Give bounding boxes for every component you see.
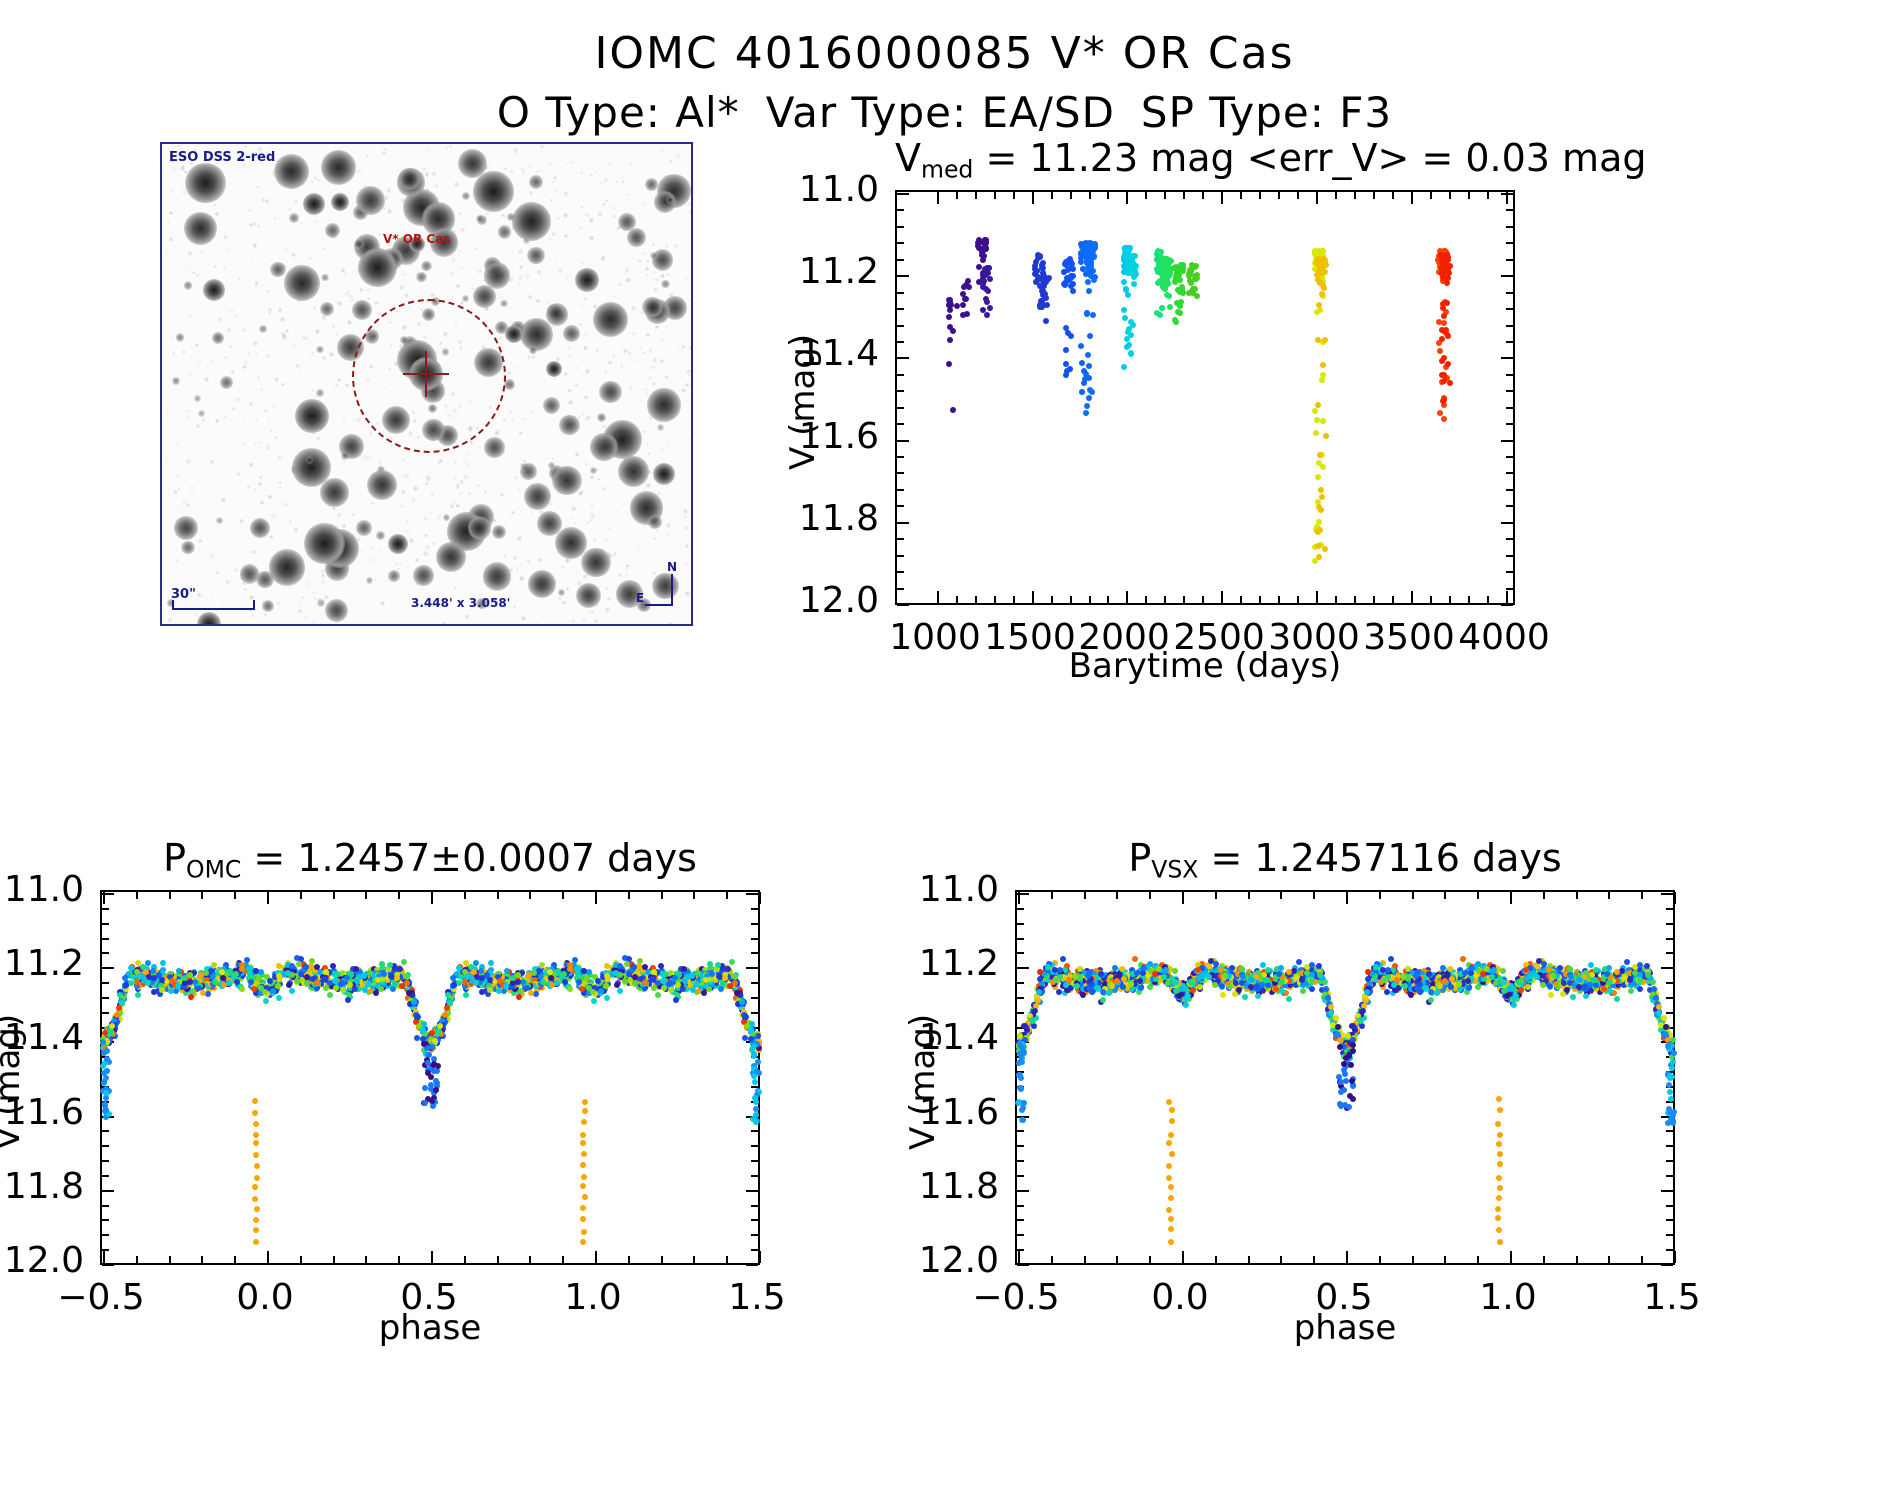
data-point (256, 976, 262, 982)
data-point (433, 1087, 439, 1093)
x-minor-tick (464, 1256, 466, 1263)
background-noise (548, 162, 552, 166)
background-noise (521, 417, 525, 421)
background-noise (342, 524, 346, 528)
field-star (512, 202, 551, 241)
background-noise (341, 464, 343, 466)
field-star (356, 520, 371, 535)
background-noise (329, 352, 334, 357)
background-noise (255, 353, 258, 356)
data-point (160, 960, 166, 966)
background-noise (642, 430, 645, 433)
background-noise (434, 167, 436, 169)
data-point (960, 302, 966, 308)
background-noise (361, 550, 363, 552)
x-minor-tick (398, 1256, 400, 1263)
survey-label: ESO DSS 2-red (169, 150, 275, 165)
y-minor-tick (102, 1012, 109, 1014)
background-noise (465, 453, 469, 457)
data-point (1084, 310, 1090, 316)
data-point (1315, 529, 1321, 535)
x-minor-tick (1070, 596, 1072, 603)
background-noise (249, 462, 254, 467)
data-point (375, 977, 381, 983)
background-noise (651, 365, 656, 370)
data-point (168, 988, 174, 994)
data-point (1187, 278, 1193, 284)
background-noise (423, 551, 428, 556)
data-point (694, 981, 700, 987)
y-minor-tick (1017, 923, 1024, 925)
background-noise (646, 392, 648, 394)
field-star (599, 381, 621, 403)
data-point (617, 963, 623, 969)
field-star (627, 228, 646, 247)
data-point (1166, 293, 1172, 299)
x-minor-tick (1280, 892, 1282, 899)
y-minor-tick (897, 341, 904, 343)
background-noise (257, 224, 260, 227)
x-tick (267, 1251, 269, 1263)
data-point (252, 1184, 258, 1190)
background-noise (634, 359, 637, 362)
data-point (1079, 360, 1085, 366)
y-minor-tick (1506, 242, 1513, 244)
y-minor-tick (1666, 1130, 1673, 1132)
background-noise (165, 460, 168, 463)
background-noise (620, 364, 623, 367)
background-noise (211, 360, 214, 363)
data-point (1316, 256, 1322, 262)
background-noise (502, 418, 506, 422)
background-noise (455, 572, 457, 574)
background-noise (337, 378, 341, 382)
y-minor-tick (897, 456, 904, 458)
data-point (1070, 288, 1076, 294)
data-point (253, 1140, 259, 1146)
y-minor-tick (1666, 1249, 1673, 1251)
x-tick-label: 1.0 (523, 1277, 663, 1318)
data-point (567, 966, 573, 972)
y-minor-tick (1506, 407, 1513, 409)
background-noise (248, 209, 251, 212)
data-point (655, 992, 661, 998)
x-tick (1346, 892, 1348, 904)
background-noise (669, 160, 672, 163)
x-minor-tick (1430, 192, 1432, 199)
background-noise (429, 511, 432, 514)
y-minor-tick (1506, 325, 1513, 327)
data-point (1121, 307, 1127, 313)
data-point (753, 1112, 759, 1118)
data-point (632, 980, 638, 986)
data-point (159, 987, 165, 993)
y-minor-tick (102, 938, 109, 940)
x-minor-tick (1183, 192, 1185, 199)
bright-star (303, 193, 325, 215)
data-point (580, 1216, 586, 1222)
background-noise (534, 527, 537, 530)
background-noise (266, 446, 270, 450)
compass-north-label: N (667, 560, 677, 574)
background-noise (688, 374, 691, 377)
background-noise (332, 507, 336, 511)
x-minor-tick (1297, 192, 1299, 199)
field-star (507, 213, 515, 221)
data-point (1176, 272, 1182, 278)
background-noise (530, 409, 534, 413)
background-noise (347, 320, 352, 325)
background-noise (645, 267, 649, 271)
data-point (598, 988, 604, 994)
background-noise (210, 554, 215, 559)
background-noise (653, 537, 656, 540)
data-point (658, 963, 664, 969)
data-point (1081, 380, 1087, 386)
x-tick (1674, 892, 1676, 904)
background-noise (400, 563, 403, 566)
background-noise (244, 145, 247, 148)
background-noise (167, 414, 169, 416)
background-noise (235, 315, 237, 317)
x-minor-tick (562, 1256, 564, 1263)
background-noise (621, 180, 625, 184)
data-point (1445, 361, 1451, 367)
x-minor-tick (1013, 192, 1015, 199)
data-point (582, 1099, 588, 1105)
field-star (462, 192, 470, 200)
data-point (727, 983, 733, 989)
x-tick (1018, 892, 1020, 904)
background-noise (405, 529, 409, 533)
background-noise (513, 605, 516, 608)
data-point (1321, 285, 1327, 291)
field-star (216, 517, 223, 524)
x-minor-tick (234, 1256, 236, 1263)
y-minor-tick (1666, 1219, 1673, 1221)
background-noise (261, 198, 265, 202)
background-noise (401, 490, 406, 495)
y-minor-tick (751, 1145, 758, 1147)
background-noise (644, 388, 647, 391)
data-point (347, 982, 353, 988)
field-star (174, 516, 198, 540)
x-tick (1221, 192, 1223, 204)
background-noise (604, 371, 607, 374)
data-point (631, 964, 637, 970)
background-noise (518, 277, 522, 281)
background-noise (335, 332, 338, 335)
background-noise (579, 226, 583, 230)
data-point (394, 975, 400, 981)
data-point (584, 976, 590, 982)
x-minor-tick (1278, 596, 1280, 603)
background-noise (639, 311, 643, 315)
background-noise (407, 565, 409, 567)
x-minor-tick (136, 892, 138, 899)
background-noise (177, 474, 179, 476)
field-star (284, 265, 320, 301)
data-point (581, 1229, 587, 1235)
data-point (1121, 364, 1127, 370)
x-minor-tick (234, 892, 236, 899)
background-noise (425, 482, 428, 485)
background-noise (513, 556, 517, 560)
x-minor-tick (1084, 892, 1086, 899)
background-noise (395, 562, 399, 566)
background-noise (460, 480, 463, 483)
background-noise (379, 462, 382, 465)
data-point (515, 979, 521, 985)
background-noise (274, 377, 279, 382)
y-tick (1501, 604, 1513, 606)
y-tick (102, 1264, 114, 1266)
y-minor-tick (1017, 1145, 1024, 1147)
lightcurve-title: Vmed = 11.23 mag <err_V> = 0.03 mag (895, 136, 1515, 184)
background-noise (608, 162, 612, 166)
data-point (1322, 546, 1328, 552)
data-point (1316, 519, 1322, 525)
y-minor-tick (1666, 1012, 1673, 1014)
background-noise (293, 343, 297, 347)
phase-vsx-plot-area (1015, 890, 1675, 1265)
background-noise (518, 488, 520, 490)
y-minor-tick (1506, 374, 1513, 376)
background-noise (557, 217, 560, 220)
x-tick (1032, 192, 1034, 204)
background-noise (324, 595, 328, 599)
background-noise (575, 452, 580, 457)
data-point (581, 1174, 587, 1180)
background-noise (558, 332, 560, 334)
y-minor-tick (102, 952, 109, 954)
background-noise (378, 312, 381, 315)
x-minor-tick (365, 1256, 367, 1263)
y-minor-tick (751, 1205, 758, 1207)
x-minor-tick (169, 892, 171, 899)
x-minor-tick (1392, 596, 1394, 603)
x-minor-tick (1430, 596, 1432, 603)
background-noise (346, 384, 349, 387)
background-noise (335, 383, 339, 387)
background-noise (605, 607, 610, 612)
background-noise (511, 417, 515, 421)
background-noise (552, 458, 554, 460)
field-star (563, 325, 580, 342)
data-point (303, 964, 309, 970)
background-noise (639, 217, 641, 219)
scalebar-line (172, 608, 255, 610)
field-star (388, 570, 399, 581)
background-noise (314, 176, 318, 180)
x-minor-tick (1444, 892, 1446, 899)
x-minor-tick (562, 892, 564, 899)
x-minor-tick (1107, 192, 1109, 199)
background-noise (526, 560, 530, 564)
y-minor-tick (897, 489, 904, 491)
data-point (729, 959, 735, 965)
background-noise (637, 549, 639, 551)
field-star (269, 549, 305, 585)
background-noise (500, 493, 504, 497)
data-point (327, 992, 333, 998)
y-tick (897, 440, 909, 442)
data-point (1157, 249, 1163, 255)
field-star (316, 389, 324, 397)
background-noise (422, 167, 426, 171)
x-minor-tick (1240, 596, 1242, 603)
background-noise (227, 328, 231, 332)
field-star (657, 424, 664, 431)
background-noise (653, 288, 658, 293)
data-point (134, 979, 140, 985)
scalebar-tick-left (172, 600, 174, 610)
background-noise (451, 257, 456, 262)
background-noise (685, 383, 689, 387)
field-star (316, 346, 324, 354)
background-noise (574, 508, 576, 510)
background-noise (578, 491, 583, 496)
background-noise (204, 377, 208, 381)
data-point (1087, 333, 1093, 339)
background-noise (384, 148, 386, 150)
data-point (524, 985, 530, 991)
y-minor-tick (897, 423, 904, 425)
y-minor-tick (751, 982, 758, 984)
background-noise (595, 170, 598, 173)
background-noise (690, 207, 693, 212)
data-point (963, 296, 969, 302)
data-point (1317, 307, 1323, 313)
background-noise (473, 238, 477, 242)
background-noise (175, 559, 179, 563)
y-minor-tick (1017, 1175, 1024, 1177)
data-point (1194, 293, 1200, 299)
data-point (516, 994, 522, 1000)
data-point (1315, 474, 1321, 480)
x-minor-tick (1051, 892, 1053, 899)
background-noise (228, 309, 231, 312)
y-minor-tick (751, 1175, 758, 1177)
background-noise (565, 277, 568, 280)
background-noise (546, 301, 548, 303)
background-noise (531, 513, 533, 515)
background-noise (424, 517, 427, 520)
background-noise (494, 519, 496, 521)
field-star (520, 463, 537, 480)
data-point (1037, 302, 1043, 308)
x-tick (1316, 591, 1318, 603)
x-minor-tick (398, 892, 400, 899)
data-point (1085, 352, 1091, 358)
field-star (421, 261, 431, 271)
background-noise (202, 418, 206, 422)
y-tick (897, 522, 909, 524)
y-minor-tick (751, 1160, 758, 1162)
background-noise (452, 501, 457, 506)
background-noise (567, 389, 570, 392)
x-tick (103, 892, 105, 904)
background-noise (520, 167, 524, 171)
background-noise (270, 535, 273, 538)
background-noise (685, 544, 690, 549)
background-noise (374, 578, 377, 581)
x-minor-tick (1477, 1256, 1479, 1263)
data-point (987, 276, 993, 282)
background-noise (475, 248, 477, 250)
data-point (1124, 336, 1130, 342)
y-minor-tick (102, 1234, 109, 1236)
data-point (1086, 363, 1092, 369)
field-star (527, 247, 544, 264)
field-star (500, 300, 508, 308)
field-star (492, 525, 506, 539)
background-noise (660, 359, 663, 362)
background-noise (557, 290, 559, 292)
background-noise (616, 180, 619, 183)
background-noise (685, 277, 689, 281)
background-noise (404, 473, 409, 478)
background-noise (643, 201, 647, 205)
field-star (259, 325, 267, 333)
field-star (184, 212, 217, 245)
background-noise (301, 596, 304, 599)
data-point (239, 986, 245, 992)
data-point (582, 1108, 588, 1114)
background-noise (591, 610, 594, 613)
background-noise (225, 623, 229, 626)
x-minor-tick (1335, 596, 1337, 603)
data-point (1319, 494, 1325, 500)
x-tick (937, 591, 939, 603)
background-noise (579, 323, 583, 327)
background-noise (689, 437, 692, 440)
background-noise (387, 209, 392, 214)
data-point (1437, 410, 1443, 416)
data-point (1159, 305, 1165, 311)
data-point (1070, 266, 1076, 272)
background-noise (590, 174, 593, 177)
background-noise (384, 196, 388, 200)
y-minor-tick (897, 242, 904, 244)
background-noise (613, 546, 615, 548)
background-noise (247, 352, 250, 355)
background-noise (171, 188, 175, 192)
background-noise (221, 498, 226, 503)
background-noise (264, 409, 268, 413)
y-minor-tick (102, 1130, 109, 1132)
background-noise (172, 351, 175, 354)
data-point (211, 962, 217, 968)
background-noise (347, 290, 350, 293)
x-tick (431, 892, 433, 904)
x-tick (431, 1251, 433, 1263)
data-point (422, 1100, 428, 1106)
background-noise (550, 199, 552, 201)
background-noise (305, 582, 309, 586)
y-minor-tick (1666, 1160, 1673, 1162)
y-minor-tick (1666, 1205, 1673, 1207)
data-point (330, 963, 336, 969)
x-minor-tick (1215, 1256, 1217, 1263)
y-tick-label: 11.6 (0, 1092, 84, 1133)
data-point (580, 1239, 586, 1245)
data-point (294, 978, 300, 984)
background-noise (626, 278, 631, 283)
background-noise (665, 375, 669, 379)
x-minor-tick (956, 192, 958, 199)
x-minor-tick (1468, 596, 1470, 603)
